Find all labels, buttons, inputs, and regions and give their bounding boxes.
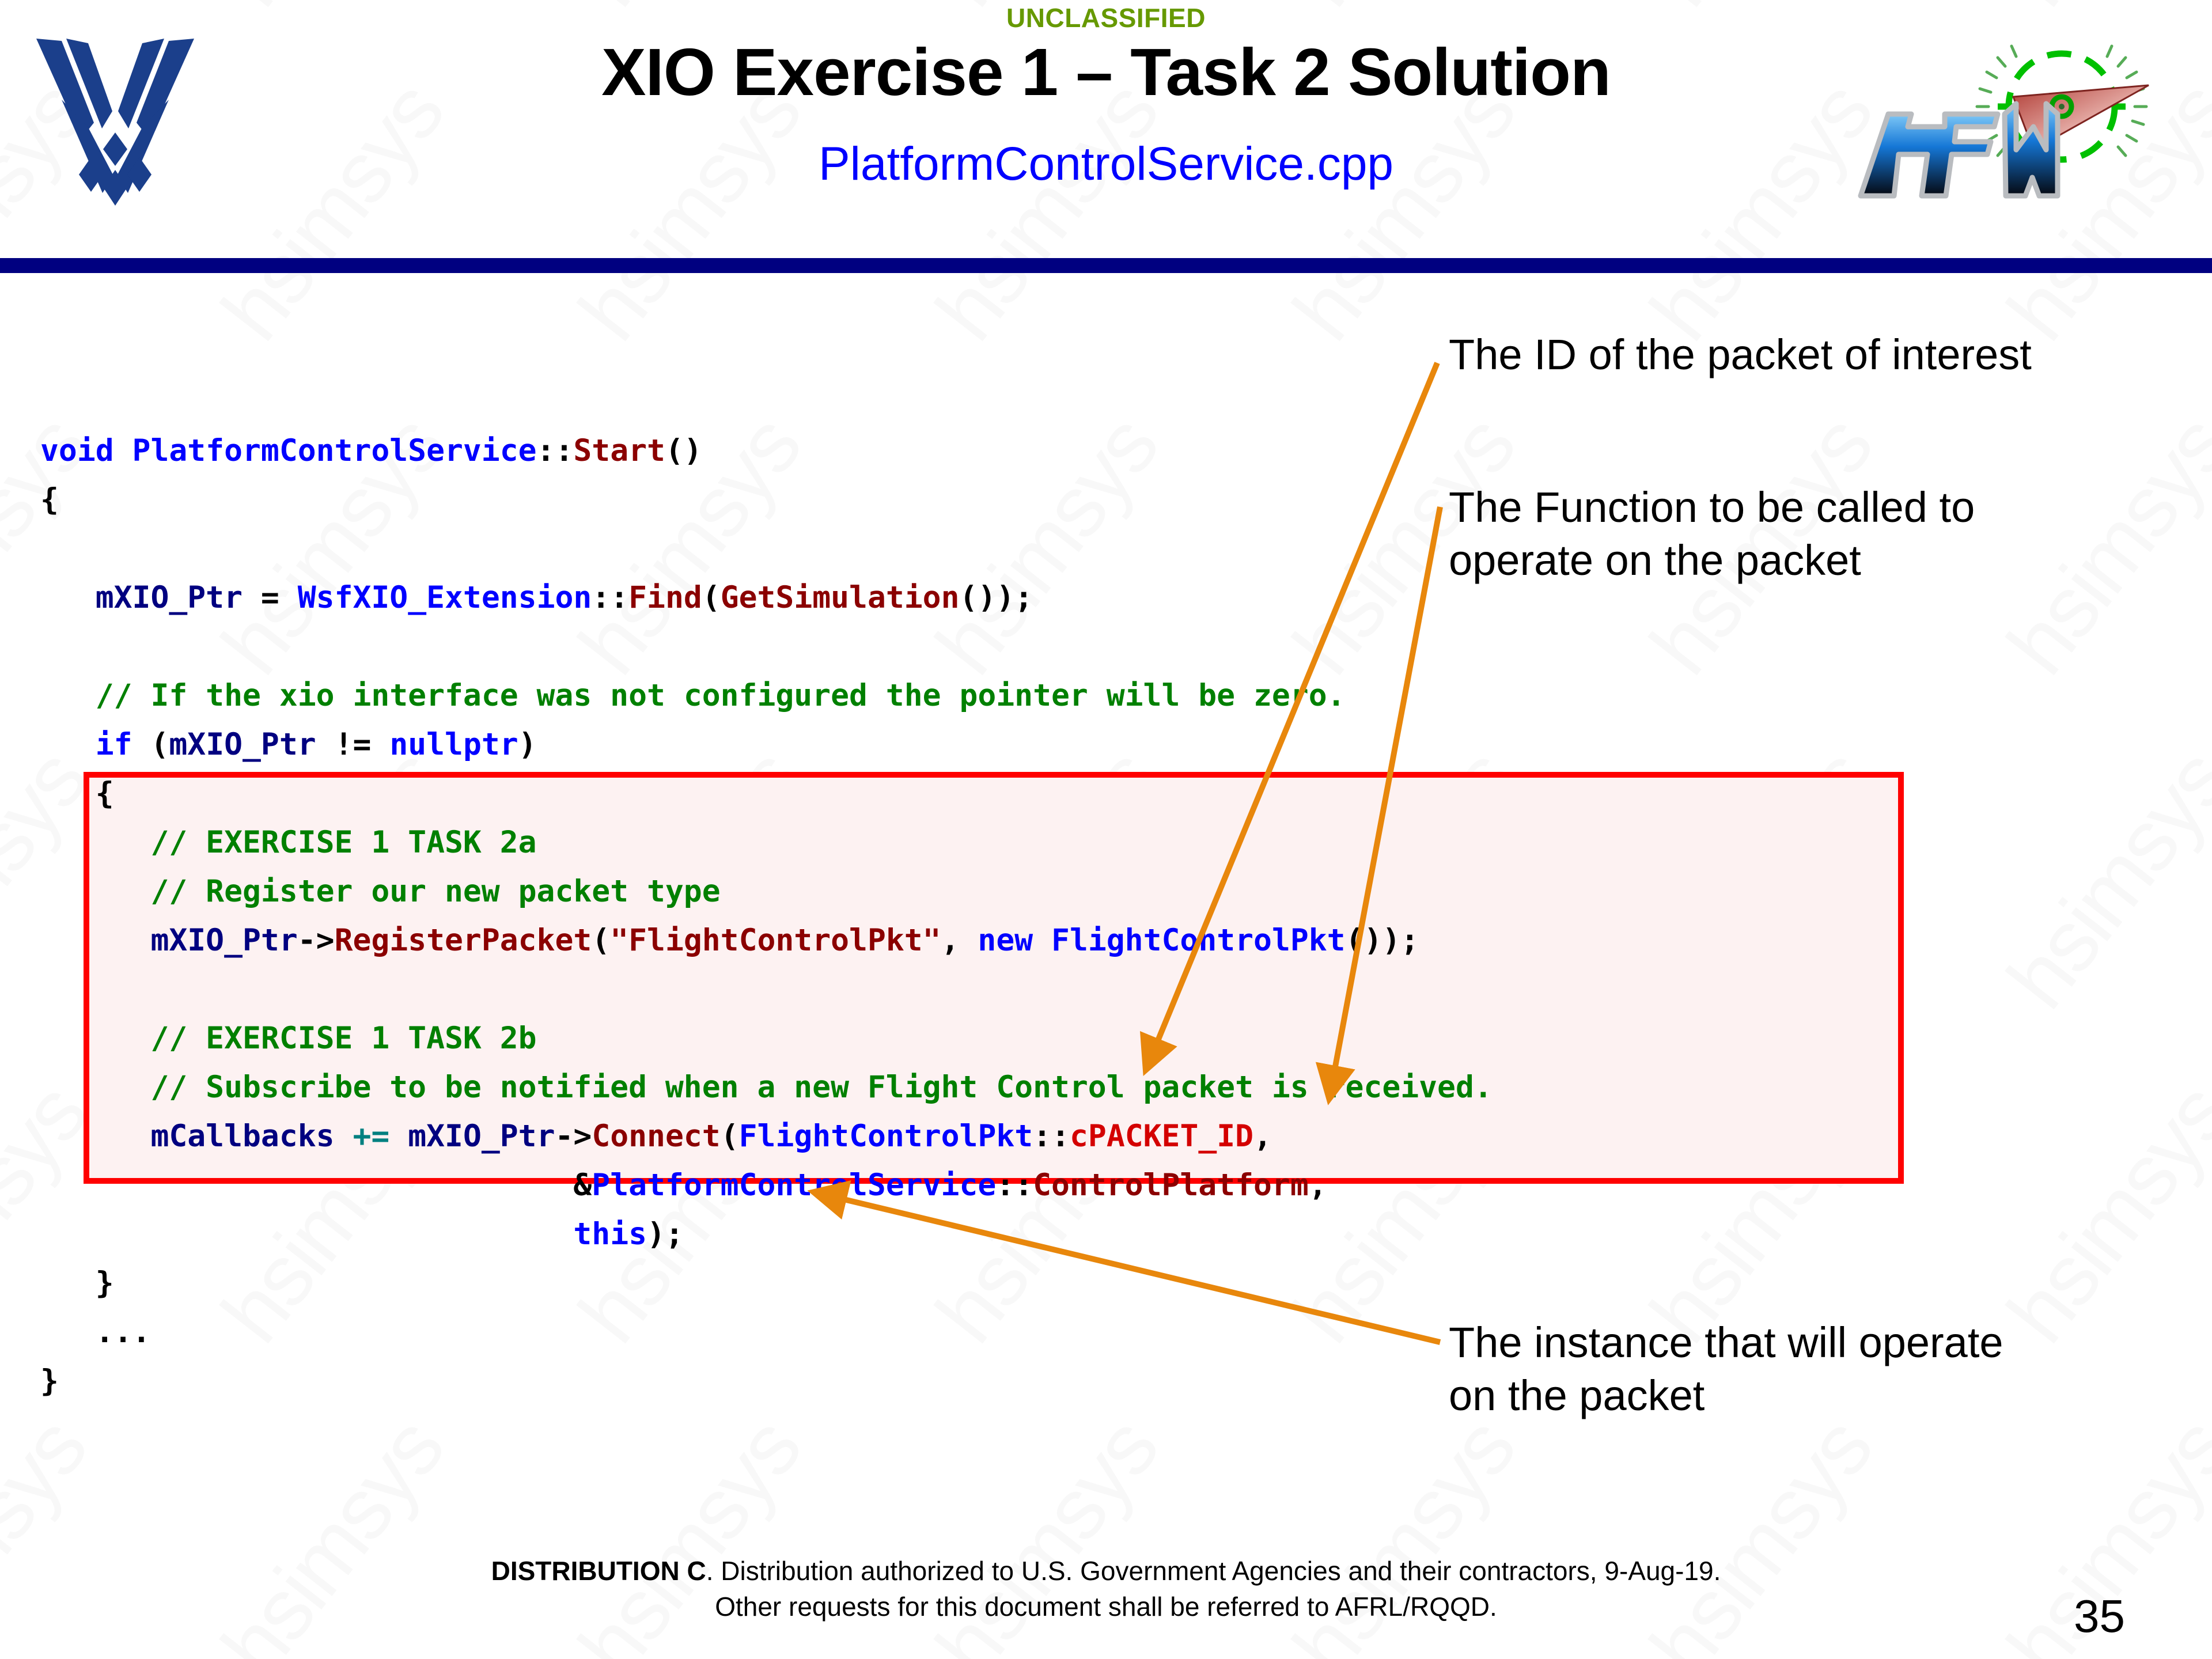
code-token [426,1217,573,1252]
code-token: ( [592,923,610,958]
code-token: "FlightControlPkt" [610,923,941,958]
code-line: ... [40,1308,1538,1357]
page-title: XIO Exercise 1 – Task 2 Solution [0,33,2212,111]
code-token: , [941,923,978,958]
header-divider [0,258,2212,273]
code-token: Connect [592,1119,720,1154]
annotation-callback-function: The Function to be called to operate on … [1449,481,2186,587]
code-line: mCallbacks += mXIO_Ptr->Connect(FlightCo… [40,1112,1538,1161]
code-line [40,524,1538,573]
code-line: // EXERCISE 1 TASK 2b [40,1014,1538,1063]
code-line: } [40,1259,1538,1308]
code-token: // If the xio interface was not configur… [96,678,1346,713]
code-line: void PlatformControlService::Start() [40,426,1538,475]
code-token: :: [592,580,628,615]
page-number: 35 [2074,1590,2177,1643]
code-token: () [665,433,702,468]
code-token: :: [537,433,574,468]
code-token [335,1119,353,1154]
code-token: WsfXIO_Extension [298,580,592,615]
code-token: mXIO_Ptr [408,1119,555,1154]
code-token: // EXERCISE 1 TASK 2b [150,1021,536,1056]
code-token: { [96,776,114,811]
code-token: if [96,727,132,762]
code-line: &PlatformControlService::ControlPlatform… [40,1161,1538,1210]
distribution-text-1: . Distribution authorized to U.S. Govern… [706,1556,1721,1586]
code-token: Start [573,433,665,468]
code-token: FlightControlPkt [739,1119,1033,1154]
code-token: :: [996,1168,1033,1203]
annotation-instance: The instance that will operate on the pa… [1449,1316,2198,1422]
code-token: // EXERCISE 1 TASK 2a [150,825,536,860]
code-line [40,965,1538,1014]
code-token: PlatformControlService [592,1168,996,1203]
code-token: ); [647,1217,684,1252]
code-line: mXIO_Ptr = WsfXIO_Extension::Find(GetSim… [40,573,1538,622]
code-line: { [40,475,1538,524]
code-token: nullptr [389,727,518,762]
code-line: // EXERCISE 1 TASK 2a [40,818,1538,867]
code-token: } [40,1363,59,1399]
distribution-label: DISTRIBUTION C [491,1556,706,1586]
code-token: += [353,1119,389,1154]
code-line: // Subscribe to be notified when a new F… [40,1063,1538,1112]
distribution-statement: DISTRIBUTION C. Distribution authorized … [0,1553,2212,1624]
code-token: void [40,433,132,468]
distribution-text-2: Other requests for this document shall b… [0,1589,2212,1624]
code-token: ( [721,1119,739,1154]
code-token: FlightControlPkt [1051,923,1346,958]
code-token: , [1309,1168,1327,1203]
code-token: mXIO_Ptr [150,923,297,958]
code-token: mXIO_Ptr [96,580,243,615]
code-token: RegisterPacket [335,923,592,958]
slide-subtitle: PlatformControlService.cpp [0,137,2212,191]
code-token: // Subscribe to be notified when a new F… [150,1070,1492,1105]
code-token: { [40,482,59,517]
annotation-packet-id: The ID of the packet of interest [1449,328,2212,381]
code-token: this [573,1217,647,1252]
code-token: PlatformControlService [132,433,537,468]
code-token: ) [518,727,537,762]
code-line: { [40,769,1538,818]
code-token: -> [555,1119,592,1154]
code-token: ( [702,580,721,615]
code-line: } [40,1357,1538,1406]
code-token: Find [628,580,702,615]
code-token: ... [96,1315,151,1350]
code-token [389,1119,408,1154]
code-listing: void PlatformControlService::Start(){ mX… [40,426,1538,1406]
code-line [40,622,1538,671]
code-line: if (mXIO_Ptr != nullptr) [40,720,1538,769]
code-token: } [96,1266,114,1301]
code-line: mXIO_Ptr->RegisterPacket("FlightControlP… [40,916,1538,965]
code-token: GetSimulation [721,580,960,615]
code-token: != [316,727,390,762]
code-token: // Register our new packet type [150,874,720,909]
code-token: ()); [960,580,1033,615]
code-line: // Register our new packet type [40,867,1538,916]
code-token: & [426,1168,592,1203]
code-line: // If the xio interface was not configur… [40,671,1538,720]
code-token: mXIO_Ptr [169,727,316,762]
code-token: new [978,923,1051,958]
classification-banner: UNCLASSIFIED [0,2,2212,33]
code-token: mCallbacks [150,1119,334,1154]
code-token: ()); [1346,923,1419,958]
code-token: :: [1033,1119,1070,1154]
slide-header: UNCLASSIFIED XIO Exercise 1 – Task 2 Sol… [0,0,2212,271]
code-token: = [243,580,298,615]
code-line: this); [40,1210,1538,1259]
code-token: cPACKET_ID [1070,1119,1253,1154]
code-token: ControlPlatform [1033,1168,1309,1203]
code-token: , [1253,1119,1272,1154]
code-token: ( [132,727,169,762]
watermark-text: hsimsys [1988,732,2212,1027]
code-token: -> [298,923,335,958]
